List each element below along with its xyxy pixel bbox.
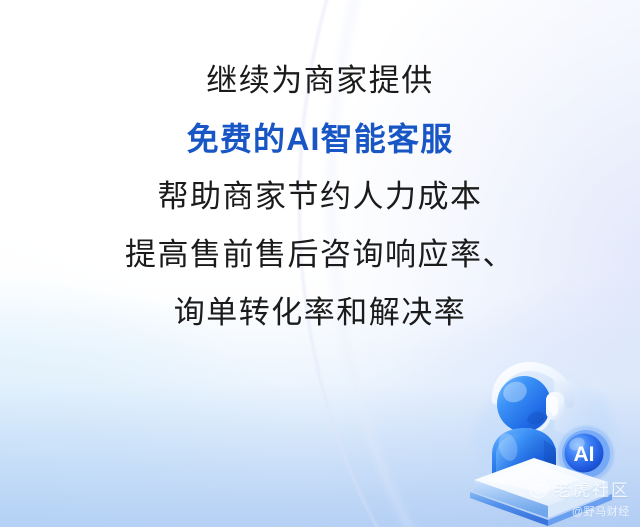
headline-block: 继续为商家提供 免费的AI智能客服 帮助商家节约人力成本 提高售前售后咨询响应率… bbox=[0, 52, 640, 342]
headline-line-4: 提高售前售后咨询响应率、 bbox=[0, 226, 640, 284]
headline-line-3: 帮助商家节约人力成本 bbox=[0, 168, 640, 226]
headline-line-2-accent: 免费的AI智能客服 bbox=[0, 110, 640, 168]
ai-mascot-illustration: AI bbox=[462, 352, 640, 527]
headline-line-1: 继续为商家提供 bbox=[0, 52, 640, 110]
promo-poster: 继续为商家提供 免费的AI智能客服 帮助商家节约人力成本 提高售前售后咨询响应率… bbox=[0, 0, 640, 527]
ai-badge-label: AI bbox=[574, 443, 595, 466]
headline-line-5: 询单转化率和解决率 bbox=[0, 284, 640, 342]
